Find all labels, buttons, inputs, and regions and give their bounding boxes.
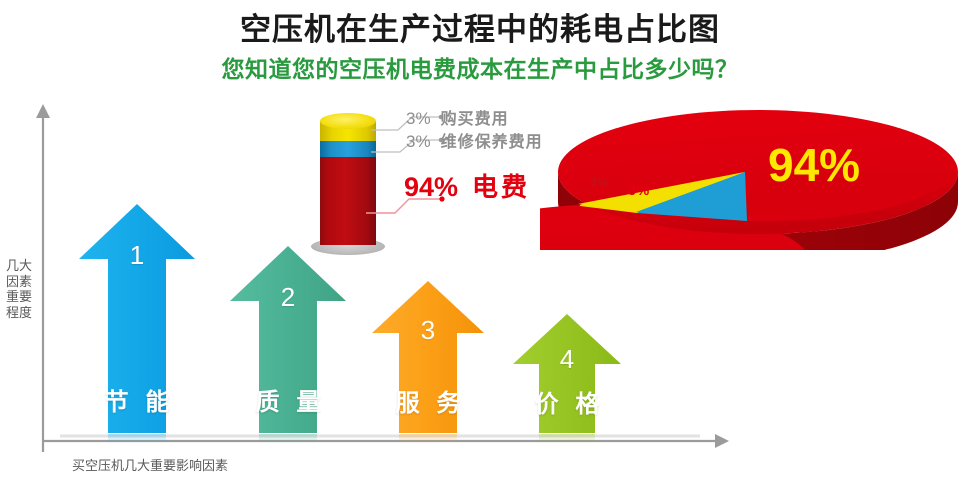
callout-purchase-name: 购买费用 bbox=[441, 111, 509, 128]
callout-electricity-value: 94% bbox=[404, 172, 458, 202]
callout-purchase-value: 3% bbox=[406, 109, 431, 128]
callout-maintenance: 3%维修保养费用 bbox=[406, 128, 543, 152]
callout-maintenance-value: 3% bbox=[406, 132, 431, 151]
pie-value-electricity: 94% bbox=[768, 138, 860, 192]
callout-purchase: 3%购买费用 bbox=[406, 105, 509, 129]
pie-value-purchase: 3% bbox=[590, 175, 609, 189]
callout-electricity: 94%电费 bbox=[404, 167, 530, 204]
callout-maintenance-name: 维修保养费用 bbox=[441, 134, 543, 151]
pie-value-maintenance: 3% bbox=[628, 182, 650, 198]
callout-electricity-name: 电费 bbox=[472, 172, 530, 202]
infographic-canvas: 空压机在生产过程中的耗电占比图 您知道您的空压机电费成本在生产中占比多少吗？ 几… bbox=[0, 0, 960, 483]
pie-chart-3d: 94% 3% 3% bbox=[540, 110, 960, 250]
